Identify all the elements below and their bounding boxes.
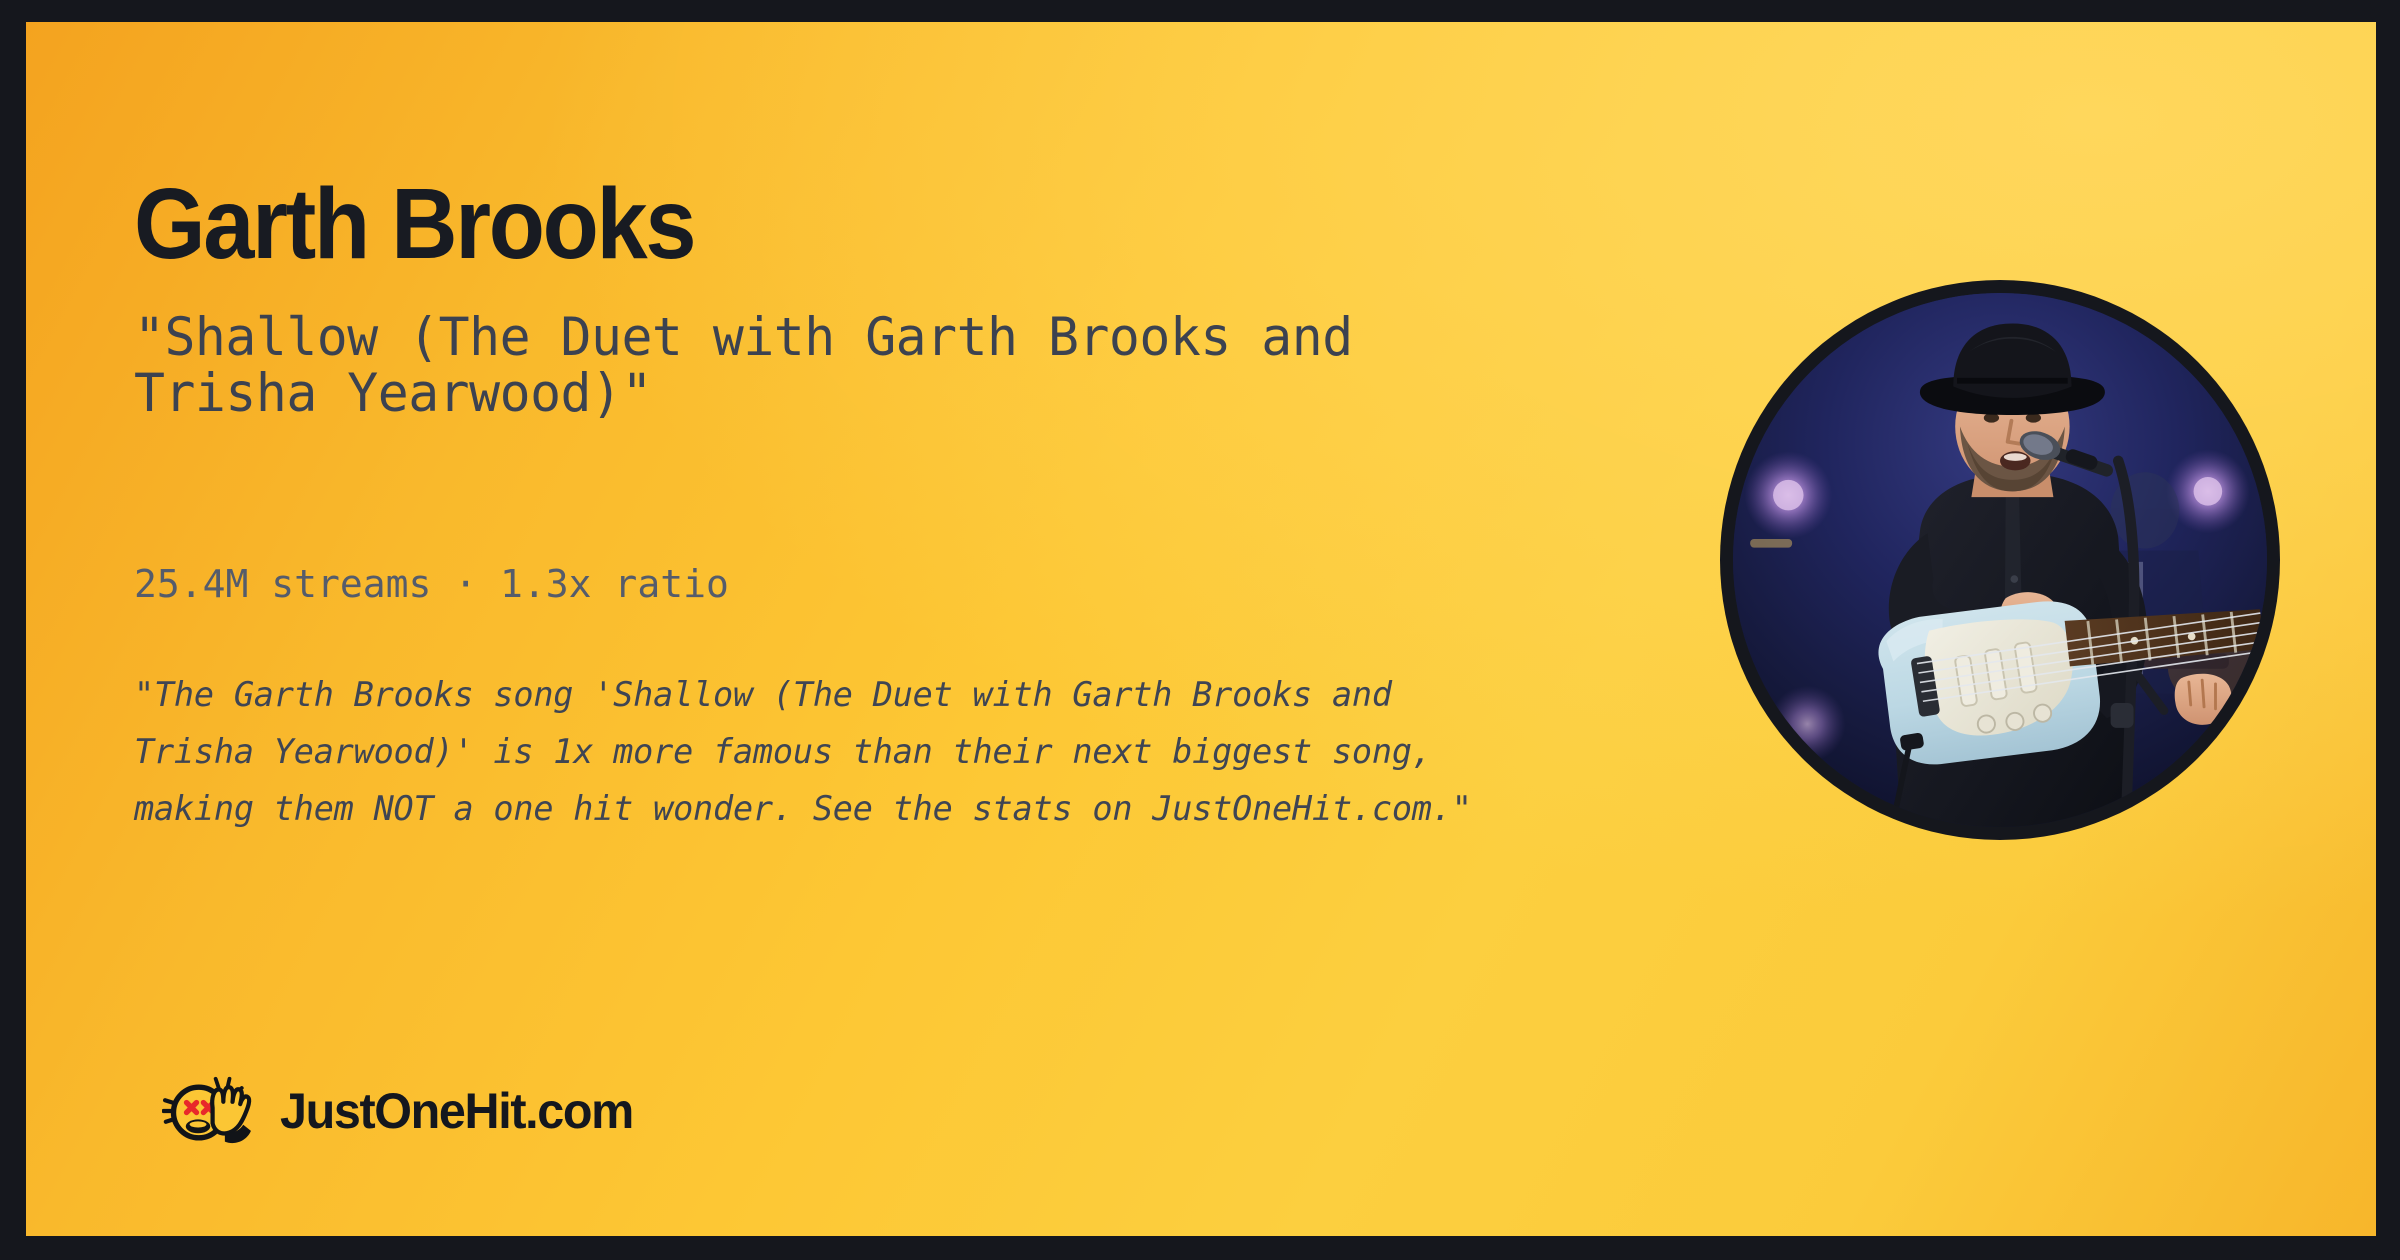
card-text-column: Garth Brooks "Shallow (The Duet with Gar… — [134, 22, 1604, 1236]
artist-portrait-ring — [1720, 280, 2280, 840]
song-title: "Shallow (The Duet with Garth Brooks and… — [134, 310, 1511, 422]
slapped-face-with-x-eyes-icon — [162, 1072, 254, 1150]
artist-name: Garth Brooks — [134, 174, 694, 274]
artist-portrait — [1733, 293, 2267, 827]
social-card-frame: Garth Brooks "Shallow (The Duet with Gar… — [0, 0, 2400, 1260]
tweet-body-text: "The Garth Brooks song 'Shallow (The Due… — [134, 667, 1513, 838]
artist-portrait-illustration — [1733, 293, 2267, 827]
social-card-canvas: Garth Brooks "Shallow (The Duet with Gar… — [26, 22, 2376, 1236]
brand-name: JustOneHit.com — [280, 1082, 633, 1140]
stats-line: 25.4M streams · 1.3x ratio — [134, 562, 729, 608]
brand-lockup[interactable]: JustOneHit.com — [162, 1072, 644, 1150]
